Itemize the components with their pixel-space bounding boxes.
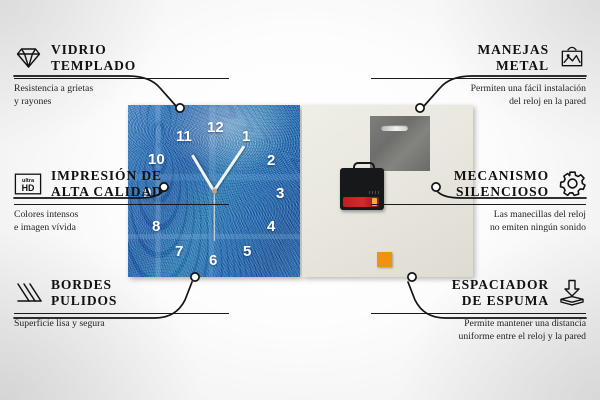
feature-title-line2: PULIDOS	[51, 293, 229, 309]
feature-title-line2: METAL	[371, 58, 549, 74]
ultra-hd-icon: ultra HD	[14, 170, 42, 198]
feature-divider	[14, 78, 229, 79]
picture-frame-hanger-icon	[558, 44, 586, 72]
feature-title-line1: MECANISMO	[371, 168, 549, 184]
clock-numeral-6: 6	[209, 253, 217, 268]
metal-hanger-plate	[370, 116, 430, 171]
clock-numeral-11: 11	[176, 129, 192, 144]
svg-text:HD: HD	[22, 183, 35, 193]
feature-title-line1: IMPRESIÓN DE	[51, 168, 229, 184]
infographic-canvas: 12 1 2 3 4 5 6 7 8 9 10 11	[0, 0, 600, 400]
feature-desc-line2: e imagen vívida	[14, 222, 229, 235]
feature-mecanismo-silencioso: MECANISMO SILENCIOSO Las manecillas del …	[371, 168, 586, 235]
clock-numeral-5: 5	[243, 244, 251, 259]
clock-numeral-3: 3	[276, 186, 284, 201]
foam-spacer-arrow-icon	[558, 279, 586, 307]
feature-desc-line2: y rayones	[14, 96, 229, 109]
feature-title-line1: ESPACIADOR	[371, 277, 549, 293]
feature-title-line1: MANEJAS	[371, 42, 549, 58]
feature-desc-line1: Colores intensos	[14, 209, 229, 222]
feature-desc-line1: Permiten una fácil instalación	[371, 83, 586, 96]
hanger-slot	[381, 125, 408, 131]
feature-desc-line1: Resistencia a grietas	[14, 83, 229, 96]
feature-desc-line2: uniforme entre el reloj y la pared	[371, 331, 586, 344]
feature-divider	[371, 78, 586, 79]
feature-title-line2: TEMPLADO	[51, 58, 229, 74]
clock-numeral-12: 12	[207, 120, 224, 135]
feature-desc-line2: no emiten ningún sonido	[371, 222, 586, 235]
feature-desc-line1: Las manecillas del reloj	[371, 209, 586, 222]
clock-numeral-10: 10	[148, 152, 165, 167]
feature-title-line1: BORDES	[51, 277, 229, 293]
feature-divider	[371, 204, 586, 205]
feature-desc-line1: Superficie lisa y segura	[14, 318, 229, 331]
polished-edges-icon	[14, 279, 42, 307]
feature-desc-line1: Permite mantener una distancia	[371, 318, 586, 331]
clock-numeral-4: 4	[267, 219, 275, 234]
feature-title-line2: DE ESPUMA	[371, 293, 549, 309]
gear-icon	[558, 170, 586, 198]
feature-impresion-alta-calidad: ultra HD IMPRESIÓN DE ALTA CALIDAD Color…	[14, 168, 229, 235]
feature-title-line1: VIDRIO	[51, 42, 229, 58]
feature-divider	[371, 313, 586, 314]
diamond-icon	[14, 44, 42, 72]
feature-bordes-pulidos: BORDES PULIDOS Superficie lisa y segura	[14, 277, 229, 331]
clock-numeral-1: 1	[242, 129, 250, 144]
feature-manejas-metal: MANEJAS METAL Permiten una fácil instala…	[371, 42, 586, 109]
clock-numeral-7: 7	[175, 244, 183, 259]
foam-spacer	[377, 252, 392, 267]
clock-numeral-2: 2	[267, 153, 275, 168]
feature-espaciador-de-espuma: ESPACIADOR DE ESPUMA Permite mantener un…	[371, 277, 586, 344]
feature-divider	[14, 313, 229, 314]
feature-desc-line2: del reloj en la pared	[371, 96, 586, 109]
feature-title-line2: ALTA CALIDAD	[51, 184, 229, 200]
feature-vidrio-templado: VIDRIO TEMPLADO Resistencia a grietas y …	[14, 42, 229, 109]
feature-title-line2: SILENCIOSO	[371, 184, 549, 200]
feature-divider	[14, 204, 229, 205]
